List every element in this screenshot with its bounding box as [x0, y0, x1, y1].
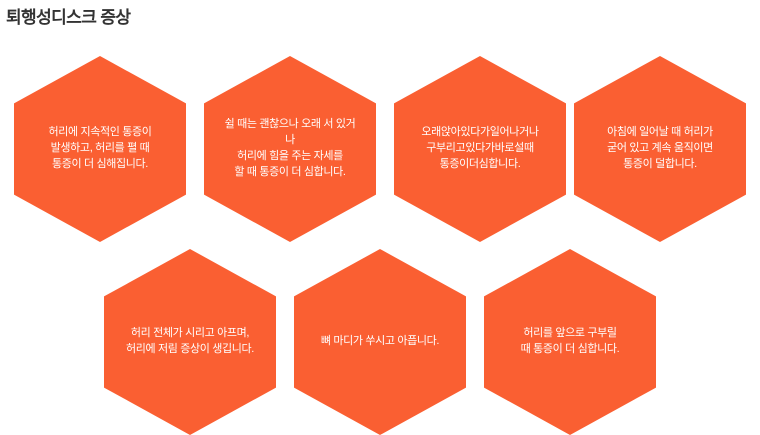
- hexagon-symptom-7-label: 허리를 앞으로 구부릴 때 통증이 더 심합니다.: [521, 326, 620, 358]
- hexagon-symptom-4-label: 아침에 일어날 때 허리가 굳어 있고 계속 움직이면 통증이 덜합니다.: [607, 125, 713, 173]
- hexagon-symptom-6-label: 뼈 마디가 쑤시고 아픕니다.: [321, 334, 439, 350]
- hexagon-symptom-3: 오래앉아있다가일어나거나 구부리고있다가바로설때 통증이더심합니다.: [394, 56, 566, 242]
- hexagon-symptom-5: 허리 전체가 시리고 아프며, 허리에 저림 증상이 생깁니다.: [104, 249, 276, 435]
- hexagon-symptom-3-label: 오래앉아있다가일어나거나 구부리고있다가바로설때 통증이더심합니다.: [421, 125, 538, 173]
- hexagon-symptom-2-label: 쉴 때는 괜찮으나 오래 서 있거나 허리에 힘을 주는 자세를 할 때 통증이…: [220, 117, 360, 181]
- hexagon-symptom-7: 허리를 앞으로 구부릴 때 통증이 더 심합니다.: [484, 249, 656, 435]
- hexagon-symptom-2: 쉴 때는 괜찮으나 오래 서 있거나 허리에 힘을 주는 자세를 할 때 통증이…: [204, 56, 376, 242]
- hexagon-symptom-1-label: 허리에 지속적인 통증이 발생하고, 허리를 펼 때 통증이 더 심해집니다.: [48, 125, 151, 173]
- hexagon-symptom-6: 뼈 마디가 쑤시고 아픕니다.: [294, 249, 466, 435]
- hexagon-board: 허리에 지속적인 통증이 발생하고, 허리를 펼 때 통증이 더 심해집니다. …: [0, 0, 760, 424]
- hexagon-symptom-4: 아침에 일어날 때 허리가 굳어 있고 계속 움직이면 통증이 덜합니다.: [574, 56, 746, 242]
- hexagon-symptom-5-label: 허리 전체가 시리고 아프며, 허리에 저림 증상이 생깁니다.: [126, 326, 254, 358]
- hexagon-symptom-1: 허리에 지속적인 통증이 발생하고, 허리를 펼 때 통증이 더 심해집니다.: [14, 56, 186, 242]
